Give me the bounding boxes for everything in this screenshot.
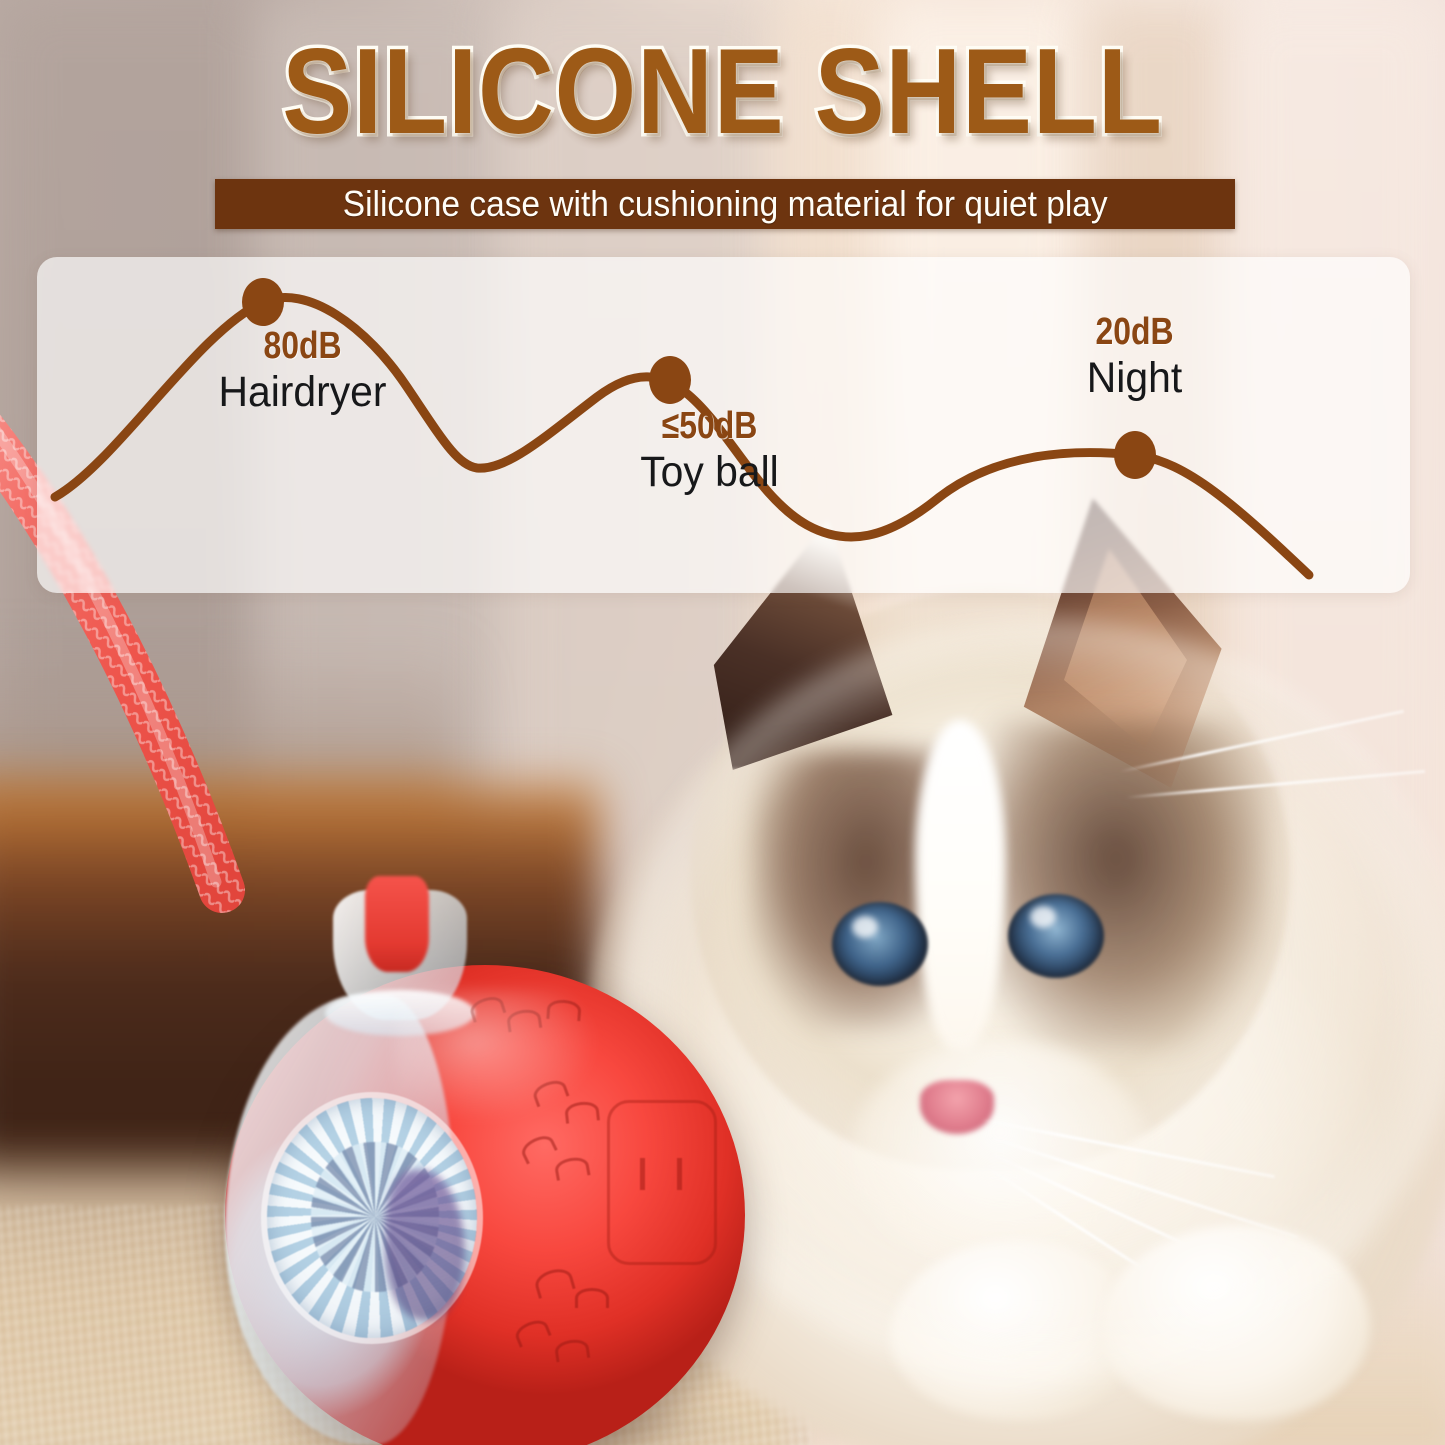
page-title: SILICONE SHELL xyxy=(101,30,1344,152)
value-toy-ball: ≤50dB xyxy=(594,407,825,447)
marker-night xyxy=(1114,431,1156,479)
ball-cap-core xyxy=(365,876,429,972)
silicone-toy-ball xyxy=(215,870,755,1445)
label-night: 20dB Night xyxy=(997,313,1272,402)
value-night: 20dB xyxy=(1019,313,1250,353)
noise-comparison-chart: 80dB Hairdryer ≤50dB Toy ball 20dB Night xyxy=(37,257,1410,593)
ball-highlight xyxy=(395,990,595,1120)
label-toy-ball: ≤50dB Toy ball xyxy=(572,407,847,496)
marker-toy-ball xyxy=(649,356,691,404)
label-hairdryer: 80dB Hairdryer xyxy=(165,327,440,416)
ball-button-icon xyxy=(640,1158,682,1190)
value-hairdryer: 80dB xyxy=(187,327,418,367)
subtitle-text: Silicone case with cushioning material f… xyxy=(343,183,1108,225)
name-night: Night xyxy=(1004,355,1265,402)
name-hairdryer: Hairdryer xyxy=(172,369,433,416)
paw-print-icon xyxy=(575,1288,609,1308)
name-toy-ball: Toy ball xyxy=(579,449,840,496)
subtitle-banner: Silicone case with cushioning material f… xyxy=(215,179,1235,229)
marker-hairdryer xyxy=(242,278,284,326)
